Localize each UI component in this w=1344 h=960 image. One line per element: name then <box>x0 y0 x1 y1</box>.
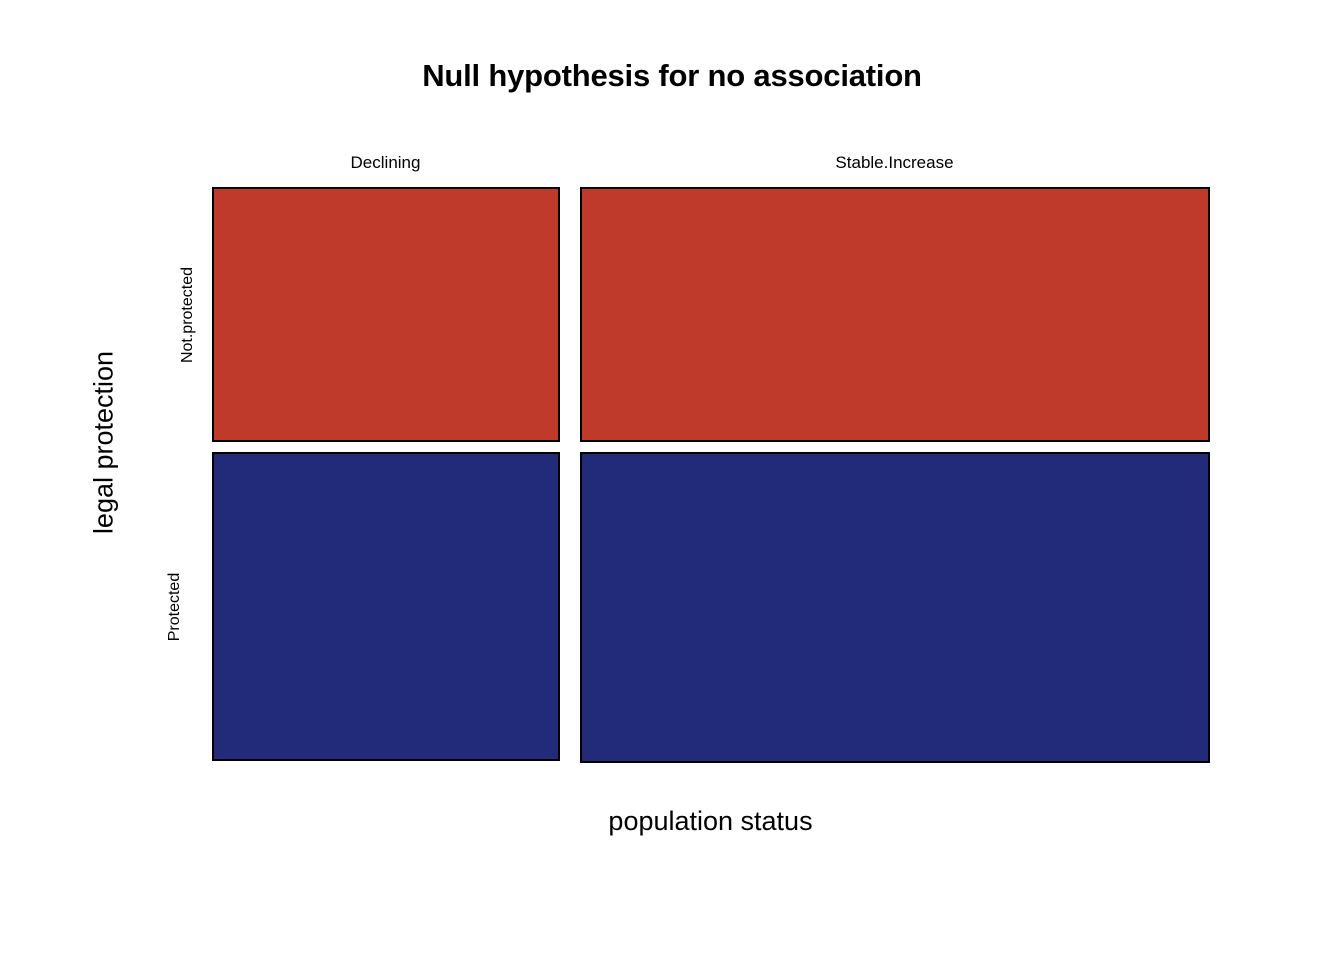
mosaic-tile-not-protected-stable-increase[interactable] <box>580 187 1210 442</box>
column-label-declining: Declining <box>212 153 559 173</box>
x-axis-title: population status <box>212 806 1209 837</box>
mosaic-plot: Null hypothesis for no association Decli… <box>0 0 1344 960</box>
row-label-protected: Protected <box>166 452 184 762</box>
chart-title: Null hypothesis for no association <box>0 58 1344 94</box>
row-label-not-protected: Not.protected <box>179 188 197 442</box>
mosaic-tile-protected-declining[interactable] <box>212 452 560 761</box>
mosaic-tile-not-protected-declining[interactable] <box>212 187 560 442</box>
column-label-stable-increase: Stable.Increase <box>580 153 1209 173</box>
y-axis-title: legal protection <box>89 323 120 563</box>
mosaic-tile-protected-stable-increase[interactable] <box>580 452 1210 763</box>
